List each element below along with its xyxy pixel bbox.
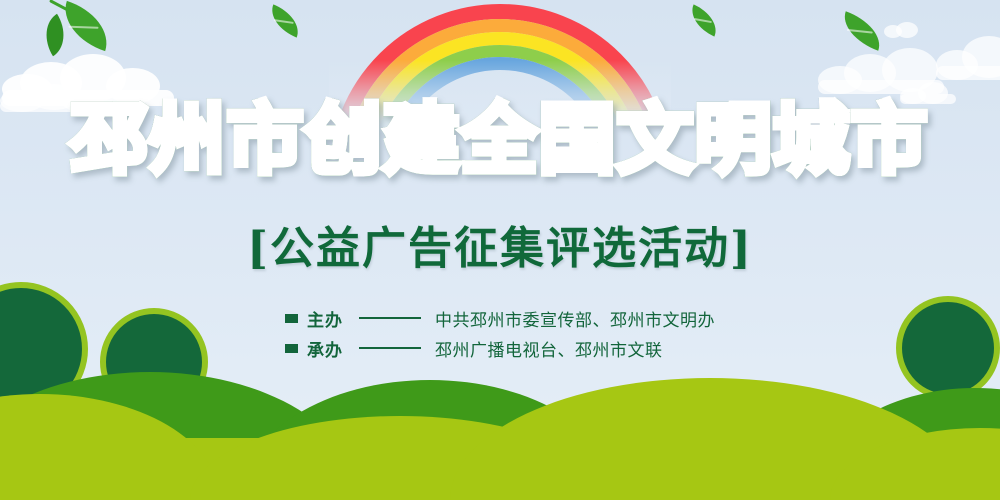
landscape-layer <box>0 0 1000 500</box>
tree-crown <box>896 296 1000 400</box>
public-service-ad-banner: 邳州市创建全国文明城市 [公益广告征集评选活动] 主办 中共邳州市委宣传部、邳州… <box>0 0 1000 500</box>
